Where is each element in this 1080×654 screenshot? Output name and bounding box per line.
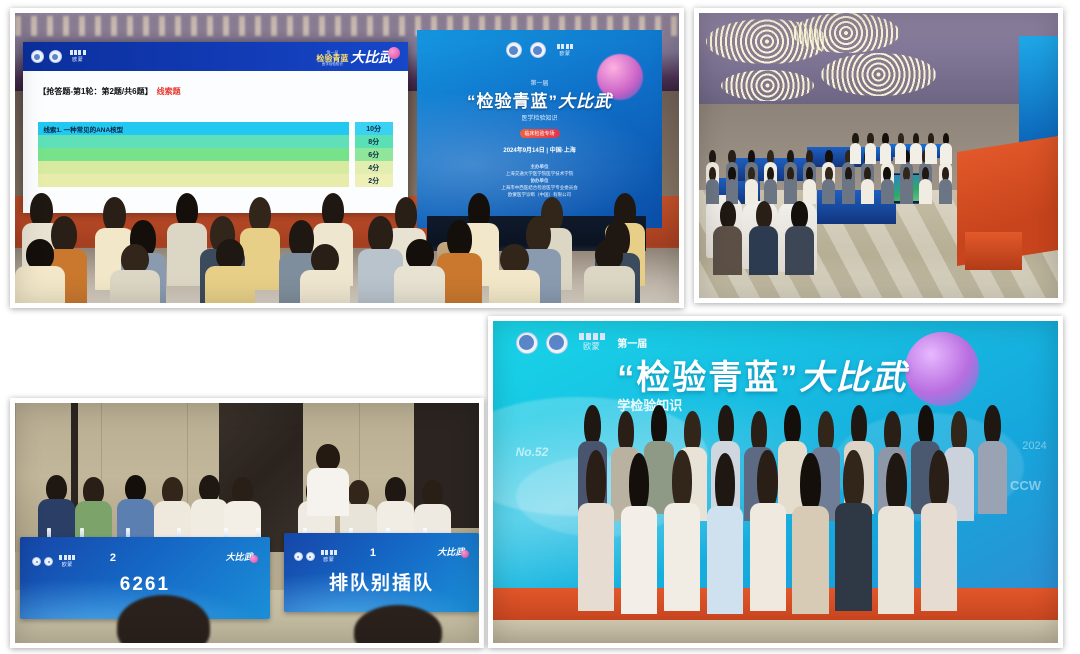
slide-logo-group: 欧蒙 bbox=[31, 50, 86, 63]
hospital-emblem-icon bbox=[44, 557, 53, 566]
clue-bar bbox=[38, 161, 348, 174]
person-head bbox=[672, 450, 692, 511]
desk-brand-lockup: 大比武 bbox=[226, 550, 258, 563]
backdrop-mark-year: 2024 bbox=[1022, 440, 1046, 452]
team-desk-1: 欧蒙 1 大比武 排队别插队 bbox=[284, 533, 479, 612]
slide-header-bar: 欧蒙 第一届 检验青蓝 医学检验知识 大比武 bbox=[23, 42, 408, 71]
euroimmun-logo-icon: 欧蒙 bbox=[59, 555, 75, 568]
quote-open: “ bbox=[467, 92, 477, 111]
chandelier-icon bbox=[721, 70, 814, 101]
clue-bar bbox=[38, 174, 348, 187]
backdrop-title-quoted: 检验青蓝 bbox=[636, 359, 780, 397]
led-subtitle: 医学检验知识 bbox=[417, 113, 663, 122]
group-member-front-row bbox=[878, 453, 914, 614]
contestant bbox=[910, 133, 921, 164]
person-head bbox=[843, 450, 863, 511]
euroimmun-logo-icon: 欧蒙 bbox=[579, 333, 605, 352]
audience-member bbox=[110, 244, 160, 303]
photo-group-shot: 欧蒙 第一届 “检验青蓝”大比武 学检验知识 No.52 CCW 2024 bbox=[488, 316, 1063, 648]
group-floor bbox=[493, 620, 1058, 643]
clue-bar-chart: 线索1. 一种常见的ANA核型10分8分6分4分2分 bbox=[38, 122, 392, 187]
backdrop-mark-ccw: CCW bbox=[1010, 478, 1041, 493]
chandelier-icon bbox=[821, 53, 936, 96]
ballroom-attendee bbox=[842, 167, 855, 204]
person-body bbox=[940, 143, 951, 164]
person-body bbox=[881, 179, 894, 204]
ballroom-attendee bbox=[803, 167, 816, 204]
person-body bbox=[584, 266, 634, 303]
desk-brand-orb-icon bbox=[250, 555, 258, 563]
ballroom-attendee bbox=[726, 167, 739, 204]
audience-member bbox=[205, 239, 255, 303]
group-member-front-row bbox=[792, 453, 828, 614]
backdrop-orb-icon bbox=[905, 332, 979, 406]
slide-brand-lockup: 第一届 检验青蓝 医学检验知识 大比武 bbox=[316, 47, 400, 67]
desk-brand-text: 大比武 bbox=[226, 550, 253, 563]
person-body bbox=[835, 503, 871, 611]
ballroom-stage-step bbox=[965, 232, 1022, 269]
person-body bbox=[785, 226, 814, 276]
group-member-back-row bbox=[978, 405, 1007, 514]
standing-staff bbox=[307, 444, 349, 516]
person-body bbox=[919, 179, 932, 204]
question-header: 【抢答题-第1轮：第2题/共6题】线索题 bbox=[38, 86, 392, 97]
audience-member bbox=[15, 239, 65, 303]
question-header-text: 【抢答题-第1轮：第2题/共6题】 bbox=[38, 87, 152, 96]
slide-body: 【抢答题-第1轮：第2题/共6题】线索题 线索1. 一种常见的ANA核型10分8… bbox=[23, 71, 408, 213]
person-body bbox=[750, 503, 786, 611]
group-member-front-row bbox=[921, 450, 957, 611]
person-body bbox=[664, 503, 700, 611]
person-body bbox=[878, 506, 914, 614]
person-body bbox=[880, 143, 891, 164]
led-date-line: 2024年9月14日 | 中国·上海 bbox=[417, 145, 663, 154]
contestant bbox=[895, 133, 906, 164]
projection-screen: 欧蒙 第一届 检验青蓝 医学检验知识 大比武 bbox=[23, 42, 408, 213]
person-body bbox=[865, 143, 876, 164]
contestant bbox=[940, 133, 951, 164]
audience-member bbox=[394, 239, 444, 303]
photo-conference-hall: 欧蒙 第一届 检验青蓝 医学检验知识 大比武 bbox=[10, 8, 684, 308]
audience-member bbox=[489, 244, 539, 303]
backdrop-main-title: “检验青蓝”大比武 bbox=[617, 350, 907, 399]
led-first-session: 第一届 bbox=[417, 78, 663, 87]
person-head bbox=[886, 453, 906, 514]
university-emblem-icon bbox=[31, 50, 44, 63]
clue-bar: 线索1. 一种常见的ANA核型 bbox=[38, 122, 348, 135]
person-body bbox=[792, 506, 828, 614]
group-member-front-row bbox=[750, 450, 786, 611]
hospital-emblem-icon bbox=[546, 332, 568, 354]
clue-bar-row: 8分 bbox=[38, 135, 392, 148]
backdrop-first-session: 第一届 bbox=[617, 335, 907, 350]
audience-member bbox=[300, 244, 350, 303]
person-head bbox=[800, 453, 820, 514]
euroimmun-logo-icon: 欧蒙 bbox=[70, 50, 86, 63]
person-body bbox=[713, 226, 742, 276]
audience-member bbox=[584, 239, 634, 303]
euroimmun-logo-text: 欧蒙 bbox=[323, 556, 334, 563]
group-member-front-row bbox=[835, 450, 871, 611]
photo-collage: 欧蒙 第一届 检验青蓝 医学检验知识 大比武 bbox=[0, 0, 1080, 654]
euroimmun-logo-text: 欧蒙 bbox=[560, 50, 571, 57]
slide-brand-orb-icon bbox=[388, 47, 400, 59]
slide-brand-sub: 医学检验知识 bbox=[322, 63, 343, 67]
contestant bbox=[117, 475, 154, 547]
ballroom-attendee bbox=[881, 167, 894, 204]
clue-bar-row: 线索1. 一种常见的ANA核型10分 bbox=[38, 122, 392, 135]
ballroom-attendee bbox=[745, 167, 758, 204]
team-name: 6261 bbox=[20, 574, 271, 596]
person-head bbox=[629, 453, 649, 514]
backdrop-title-block: 第一届 “检验青蓝”大比武 学检验知识 bbox=[617, 335, 907, 414]
quote-close: ” bbox=[780, 359, 799, 397]
quote-open: “ bbox=[617, 359, 636, 397]
foreground-attendee bbox=[749, 201, 778, 275]
group-member-front-row bbox=[621, 453, 657, 614]
euroimmun-logo-text: 欧蒙 bbox=[62, 561, 73, 568]
person-body bbox=[925, 143, 936, 164]
person-body bbox=[578, 503, 614, 611]
person-body bbox=[850, 143, 861, 164]
person-body bbox=[842, 179, 855, 204]
clue-text: 线索1. 一种常见的ANA核型 bbox=[43, 124, 123, 134]
photo-contestant-desks: 欧蒙 2 大比武 6261 欧蒙 bbox=[10, 398, 484, 648]
person-body bbox=[205, 266, 255, 303]
hall-scene: 欧蒙 第一届 检验青蓝 医学检验知识 大比武 bbox=[15, 13, 679, 303]
foreground-attendee bbox=[713, 201, 742, 275]
led-title-big: 大比武 bbox=[558, 92, 612, 111]
clue-bar bbox=[38, 135, 348, 148]
led-main-title: “检验青蓝”大比武 bbox=[417, 87, 663, 112]
hospital-emblem-icon bbox=[49, 50, 62, 63]
clue-score-label: 4分 bbox=[355, 161, 393, 174]
ballroom-attendee bbox=[919, 167, 932, 204]
ballroom-attendee bbox=[939, 167, 952, 204]
team-number: 2 bbox=[110, 552, 116, 564]
university-emblem-icon bbox=[506, 42, 522, 58]
hospital-emblem-icon bbox=[306, 552, 315, 561]
desk-logo-group: 欧蒙 bbox=[32, 555, 75, 568]
person-body bbox=[861, 179, 874, 204]
backdrop-title-big: 大比武 bbox=[799, 359, 907, 397]
ballroom-attendee bbox=[822, 167, 835, 204]
person-body bbox=[921, 503, 957, 611]
led-title-quoted: 检验青蓝 bbox=[477, 92, 549, 111]
group-member-front-row bbox=[578, 450, 614, 611]
euroimmun-logo-text: 欧蒙 bbox=[72, 56, 83, 63]
led-logo-group: 欧蒙 bbox=[417, 42, 663, 58]
team-number: 1 bbox=[370, 547, 376, 559]
person-head bbox=[929, 450, 949, 511]
person-body bbox=[939, 179, 952, 204]
teams-scene: 欧蒙 2 大比武 6261 欧蒙 bbox=[15, 403, 479, 643]
foreground-attendee bbox=[785, 201, 814, 275]
euroimmun-logo-icon: 欧蒙 bbox=[557, 44, 573, 57]
clue-bar bbox=[38, 148, 348, 161]
chandelier-icon bbox=[792, 13, 900, 53]
person-body bbox=[15, 266, 65, 303]
clue-score-label: 6分 bbox=[355, 148, 393, 161]
ballroom-attendee bbox=[861, 167, 874, 204]
ballroom-attendee bbox=[900, 167, 913, 204]
person-body bbox=[910, 143, 921, 164]
contestant bbox=[38, 475, 75, 547]
clue-score-label: 8分 bbox=[355, 135, 393, 148]
desk-logo-group: 欧蒙 bbox=[294, 550, 337, 563]
group-member-front-row bbox=[664, 450, 700, 611]
clue-bar-row: 2分 bbox=[38, 174, 392, 187]
desk-brand-lockup: 大比武 bbox=[437, 545, 469, 558]
ballroom-attendee bbox=[784, 167, 797, 204]
person-body bbox=[900, 179, 913, 204]
person-body bbox=[307, 468, 349, 516]
person-body bbox=[707, 506, 743, 614]
photo-ballroom bbox=[694, 8, 1063, 303]
contestant bbox=[865, 133, 876, 164]
person-body bbox=[895, 143, 906, 164]
group-member-front-row bbox=[707, 453, 743, 614]
person-body bbox=[822, 179, 835, 204]
led-session-tag: 临床检验专场 bbox=[520, 129, 560, 138]
quote-close: ” bbox=[549, 92, 559, 111]
person-body bbox=[394, 266, 444, 303]
person-body bbox=[749, 226, 778, 276]
clue-bar-row: 6分 bbox=[38, 148, 392, 161]
ballroom-attendee bbox=[706, 167, 719, 204]
university-emblem-icon bbox=[32, 557, 41, 566]
backdrop-mark-no: No.52 bbox=[516, 445, 549, 459]
led-title-block: 第一届 “检验青蓝”大比武 医学检验知识 临床检验专场 bbox=[417, 78, 663, 140]
person-body bbox=[978, 441, 1007, 514]
person-body bbox=[110, 270, 160, 303]
person-body bbox=[300, 270, 350, 303]
university-emblem-icon bbox=[516, 332, 538, 354]
question-type-tag: 线索题 bbox=[157, 87, 181, 96]
contestant bbox=[850, 133, 861, 164]
hospital-emblem-icon bbox=[530, 42, 546, 58]
clue-score-label: 2分 bbox=[355, 174, 393, 187]
contestant bbox=[925, 133, 936, 164]
slide-brand-big: 大比武 bbox=[350, 47, 392, 67]
backdrop-logo-group: 欧蒙 bbox=[516, 332, 605, 354]
clue-bar-row: 4分 bbox=[38, 161, 392, 174]
person-head bbox=[715, 453, 735, 514]
contestant bbox=[880, 133, 891, 164]
desk-brand-orb-icon bbox=[461, 550, 469, 558]
university-emblem-icon bbox=[294, 552, 303, 561]
euroimmun-logo-icon: 欧蒙 bbox=[321, 550, 337, 563]
group-scene: 欧蒙 第一届 “检验青蓝”大比武 学检验知识 No.52 CCW 2024 bbox=[493, 321, 1058, 643]
person-body bbox=[621, 506, 657, 614]
clue-score-label: 10分 bbox=[355, 122, 393, 135]
person-body bbox=[489, 270, 539, 303]
person-head bbox=[368, 216, 393, 253]
euroimmun-logo-text: 欧蒙 bbox=[583, 341, 600, 352]
person-head bbox=[586, 450, 606, 511]
ballroom-attendee bbox=[764, 167, 777, 204]
team-name: 排队别插队 bbox=[284, 568, 479, 595]
desk-brand-text: 大比武 bbox=[437, 545, 464, 558]
ballroom-scene bbox=[699, 13, 1058, 298]
person-head bbox=[757, 450, 777, 511]
